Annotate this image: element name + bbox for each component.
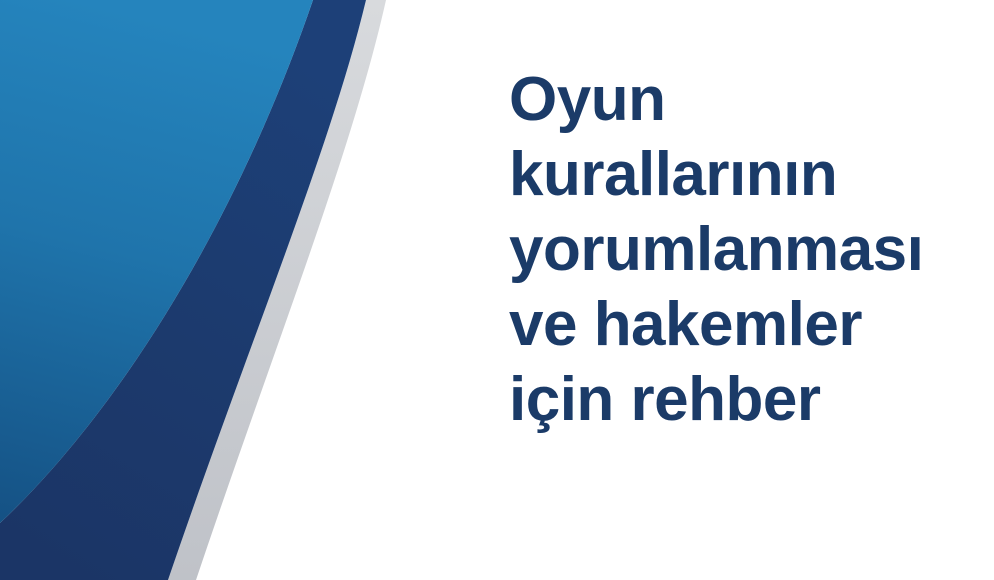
title-line-5: için rehber bbox=[509, 362, 949, 437]
title-line-1: Oyun bbox=[509, 62, 949, 137]
navy-curve-shape bbox=[0, 0, 366, 580]
shadow-stripe-shape bbox=[168, 0, 386, 580]
page-title: Oyun kurallarının yorumlanması ve hakeml… bbox=[509, 62, 949, 437]
title-line-2: kurallarının bbox=[509, 137, 949, 212]
light-blue-curve-shape bbox=[0, 0, 313, 523]
title-line-4: ve hakemler bbox=[509, 287, 949, 362]
title-slide: Oyun kurallarının yorumlanması ve hakeml… bbox=[0, 0, 994, 580]
title-line-3: yorumlanması bbox=[509, 212, 949, 287]
